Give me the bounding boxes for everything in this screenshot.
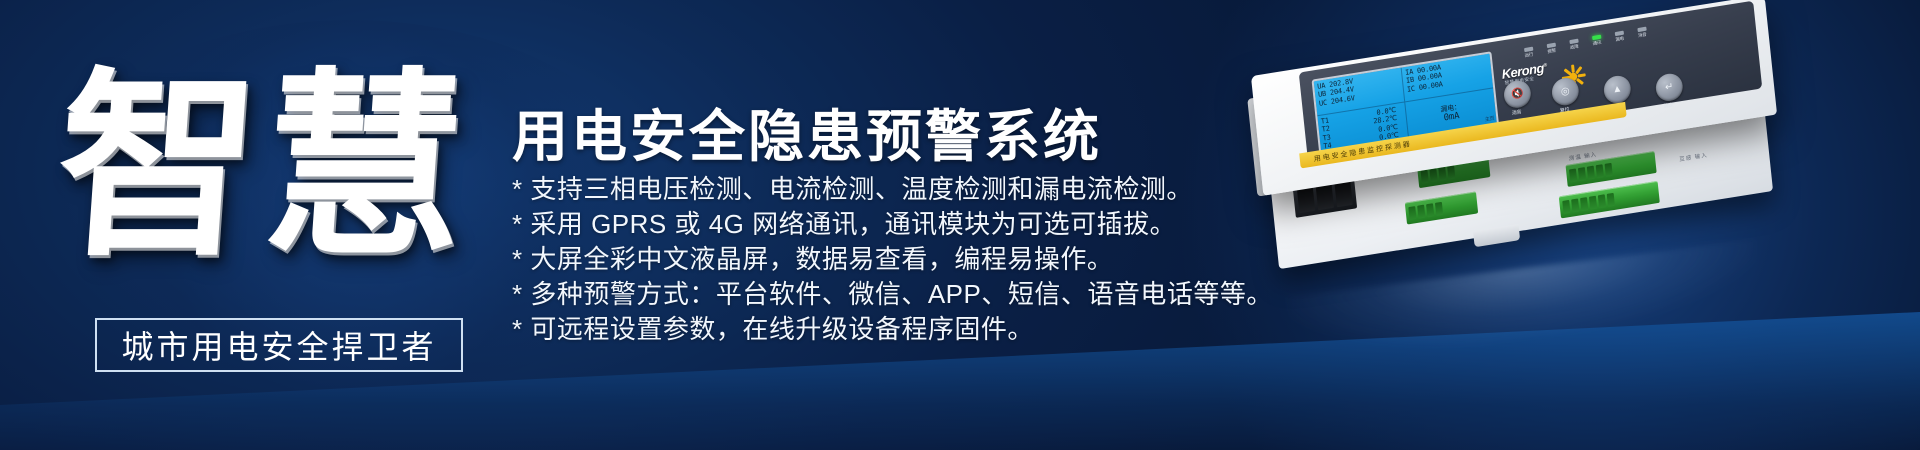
- led-indicator-alarm: 报警: [1544, 42, 1559, 55]
- product-image: 电源 信号 测温 输入 互感 输入: [1140, 0, 1920, 450]
- mute-button[interactable]: 🔇: [1503, 79, 1532, 110]
- lcd-leak-value: 0mA: [1443, 112, 1459, 123]
- list-item: * 支持三相电压检测、电流检测、温度检测和漏电流检测。: [512, 172, 1232, 207]
- list-item: * 可远程设置参数，在线升级设备程序固件。: [512, 312, 1232, 347]
- led-indicator-run: 运行: [1521, 46, 1536, 59]
- led-label: 通讯: [1590, 39, 1605, 47]
- terminal-block-power: [1405, 191, 1478, 224]
- slogan-text: 城市用电安全捍卫者: [121, 322, 436, 368]
- confirm-button[interactable]: ↵: [1655, 72, 1684, 103]
- reset-button[interactable]: ◎: [1551, 76, 1580, 107]
- feature-list: * 支持三相电压检测、电流检测、温度检测和漏电流检测。 * 采用 GPRS 或 …: [512, 172, 1232, 347]
- slogan-box: 城市用电安全捍卫者: [95, 318, 463, 372]
- mute-button-label: 消音: [1511, 108, 1521, 116]
- arrow-up-icon: ▲: [1612, 83, 1623, 96]
- led-indicator-fault: 故障: [1566, 38, 1581, 51]
- led-label: 漏电: [1612, 35, 1627, 43]
- mute-icon: 🔇: [1511, 88, 1524, 101]
- confirm-button-label: 确定: [1663, 101, 1673, 109]
- list-item: * 大屏全彩中文液晶屏，数据易查看，编程易操作。: [512, 242, 1232, 277]
- enter-icon: ↵: [1665, 81, 1674, 93]
- terminal-block-ct: [1559, 181, 1660, 219]
- promo-banner: 智慧 城市用电安全捍卫者 用电安全隐患预警系统 * 支持三相电压检测、电流检测、…: [0, 0, 1920, 450]
- led-label: 运行: [1522, 51, 1537, 59]
- led-indicator-comm: 通讯: [1589, 34, 1604, 47]
- led-label: 报警: [1544, 47, 1559, 55]
- control-panel: 运行 报警 故障 通讯: [1495, 5, 1758, 125]
- registered-mark-icon: ®: [1543, 62, 1547, 68]
- list-item: * 多种预警方式：平台软件、微信、APP、短信、语音电话等等。: [512, 277, 1232, 312]
- list-item: * 采用 GPRS 或 4G 网络通讯，通讯模块为可选可插拔。: [512, 207, 1232, 242]
- led-label: 消音: [1635, 31, 1650, 39]
- page-title: 用电安全隐患预警系统: [512, 92, 1102, 173]
- calligraphy-title: 智慧: [54, 22, 474, 312]
- terminal-label: 互感 输入: [1679, 151, 1708, 163]
- led-indicator-mute: 消音: [1634, 26, 1649, 39]
- increase-button[interactable]: ▲: [1603, 74, 1632, 105]
- led-indicator-leak: 漏电: [1612, 30, 1627, 43]
- led-label: 故障: [1567, 43, 1582, 51]
- led-indicator-row: 运行 报警 故障 通讯: [1521, 26, 1649, 59]
- reset-icon: ◎: [1560, 86, 1570, 98]
